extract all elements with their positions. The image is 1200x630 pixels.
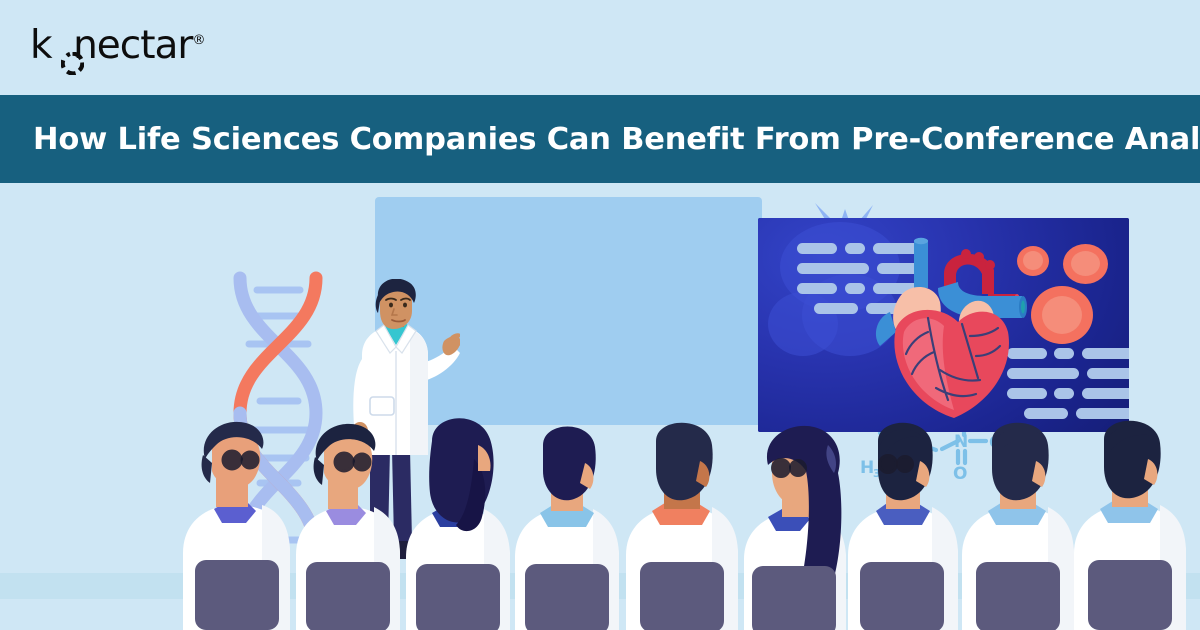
audience-member-1: [183, 422, 290, 630]
logo-text-rest: nectar: [73, 23, 192, 68]
logo-bar: konectar®: [0, 0, 1200, 92]
audience-member-5: [626, 423, 738, 630]
audience-member-4: [515, 427, 619, 630]
audience-member-9: [1074, 421, 1186, 630]
audience-member-7: [848, 423, 958, 630]
seated-audience: [0, 183, 1200, 630]
audience-member-3: [406, 418, 510, 630]
logo-dashed-o-icon: [61, 41, 84, 64]
audience-member-8: [962, 423, 1074, 630]
logo-wordmark: konectar®: [30, 24, 204, 68]
registered-trademark-icon: ®: [192, 33, 204, 48]
audience-member-6: [744, 426, 846, 630]
konectar-logo[interactable]: konectar®: [30, 24, 204, 68]
title-band: How Life Sciences Companies Can Benefit …: [0, 95, 1200, 183]
banner-canvas: CH 3 N O N CH 3 O N H 3 C N: [0, 0, 1200, 630]
illustration-scene: CH 3 N O N CH 3 O N H 3 C N: [0, 183, 1200, 630]
audience-member-2: [296, 424, 400, 630]
page-title: How Life Sciences Companies Can Benefit …: [0, 122, 1200, 157]
logo-text-k: k: [30, 23, 50, 68]
